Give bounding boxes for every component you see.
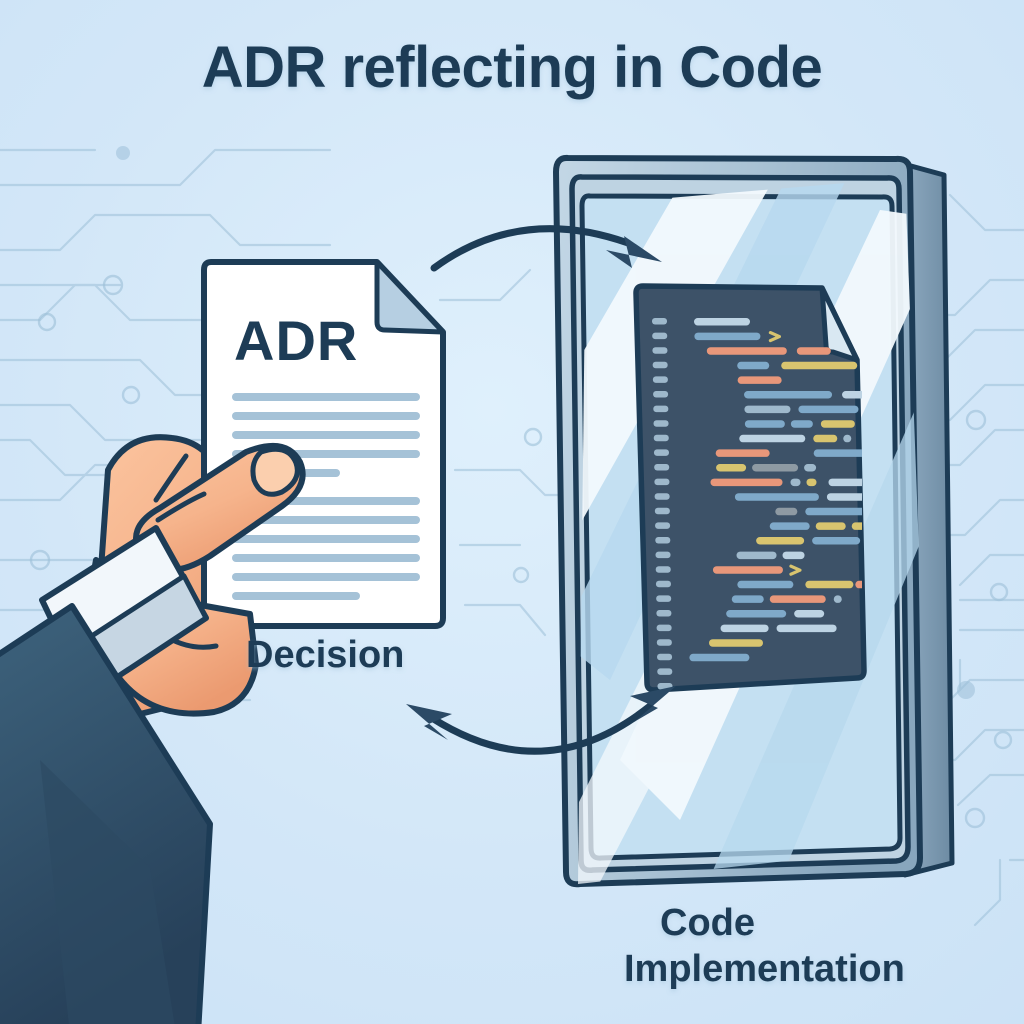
adr-page-fold (377, 262, 443, 332)
caption-decision: Decision (246, 634, 404, 677)
thumb-nail (253, 449, 297, 494)
adr-text-line (232, 535, 420, 543)
adr-heading: ADR (234, 309, 358, 372)
caption-code-line1: Code (660, 902, 755, 944)
adr-text-line (232, 431, 420, 439)
adr-text-line (232, 393, 420, 401)
caption-code-implementation: Code Implementation (660, 900, 905, 993)
illustration-canvas: ADR reflecting in Code (0, 0, 1024, 1024)
adr-text-line (232, 592, 360, 600)
adr-document[interactable]: ADR (204, 262, 443, 626)
adr-text-line (232, 573, 420, 581)
adr-text-line (232, 554, 420, 562)
adr-text-line (232, 412, 420, 420)
caption-code-line2: Implementation (624, 946, 905, 992)
hand-holding-document: ADR (0, 0, 1024, 1024)
